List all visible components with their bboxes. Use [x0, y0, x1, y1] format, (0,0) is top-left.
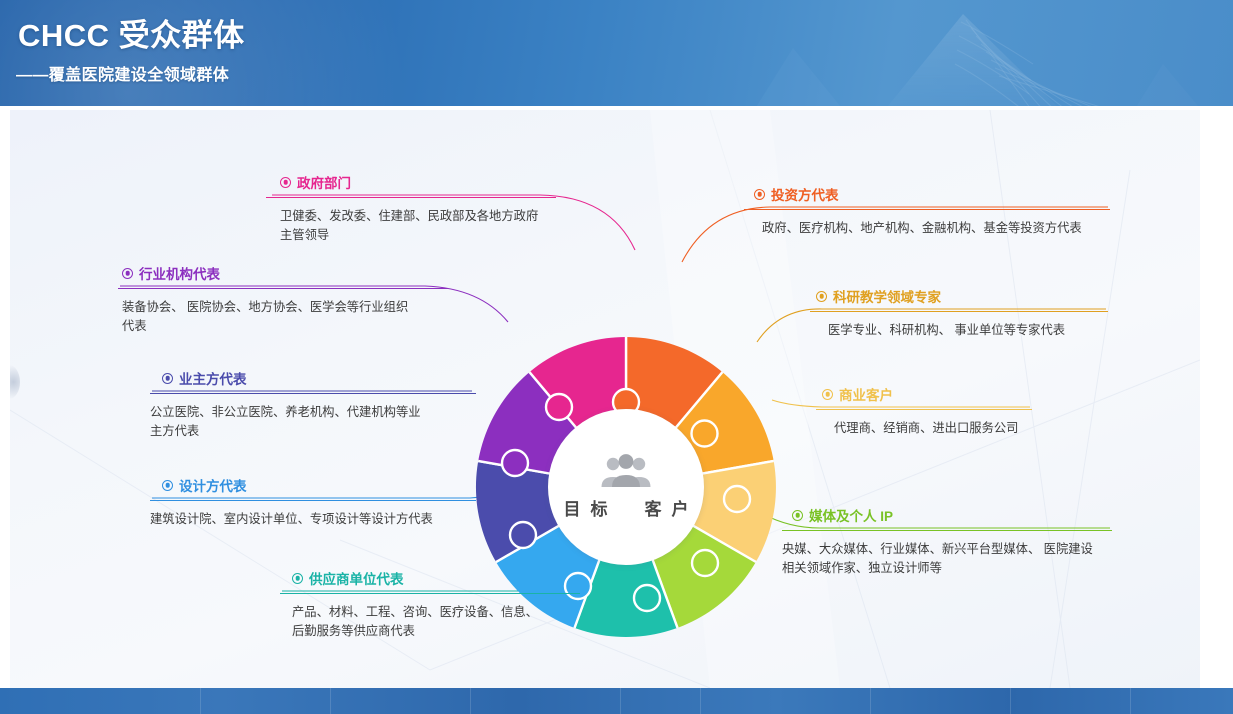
bullet-icon — [292, 573, 303, 584]
footer-band — [0, 688, 1233, 714]
bullet-icon — [822, 389, 833, 400]
callout-title: 商业客户 — [839, 384, 893, 404]
callout-media[interactable]: 媒体及个人 IP 央媒、大众媒体、行业媒体、新兴平台型媒体、 医院建设 相关领域… — [782, 505, 1112, 578]
content-panel: 目标 客户 政府部门 卫健委、发改委、住建部、民政部及各地方政府 主管领导 行业… — [10, 110, 1200, 688]
callout-desc: 装备协会、 医院协会、地方协会、医学会等行业组织 代表 — [118, 289, 448, 336]
callout-research[interactable]: 科研教学领域专家 医学专业、科研机构、 事业单位等专家代表 — [810, 286, 1108, 340]
callout-title: 业主方代表 — [179, 368, 247, 388]
page-subtitle: ——覆盖医院建设全领域群体 — [16, 61, 229, 85]
callout-desc: 政府、医疗机构、地产机构、金融机构、基金等投资方代表 — [744, 210, 1110, 238]
callout-desc: 卫健委、发改委、住建部、民政部及各地方政府 主管领导 — [266, 198, 556, 245]
people-group-icon — [599, 454, 653, 488]
callout-supplier[interactable]: 供应商单位代表 产品、材料、工程、咨询、医疗设备、信息、 后勤服务等供应商代表 — [280, 568, 580, 641]
callout-title: 科研教学领域专家 — [833, 286, 941, 306]
callout-title: 政府部门 — [297, 172, 351, 192]
callout-title: 行业机构代表 — [139, 263, 220, 283]
page-title: CHCC 受众群体 — [18, 10, 245, 55]
bullet-icon — [816, 291, 827, 302]
wheel-center-label: 目标 客户 — [554, 495, 699, 520]
callout-desc: 建筑设计院、室内设计单位、专项设计等设计方代表 — [150, 501, 476, 529]
callout-desc: 公立医院、非公立医院、养老机构、代建机构等业 主方代表 — [150, 394, 476, 441]
bullet-icon — [792, 510, 803, 521]
callout-industry-org[interactable]: 行业机构代表 装备协会、 医院协会、地方协会、医学会等行业组织 代表 — [118, 263, 448, 336]
callout-owner[interactable]: 业主方代表 公立医院、非公立医院、养老机构、代建机构等业 主方代表 — [150, 368, 476, 441]
bullet-icon — [280, 177, 291, 188]
callout-business[interactable]: 商业客户 代理商、经销商、进出口服务公司 — [816, 384, 1032, 438]
bullet-icon — [754, 189, 765, 200]
callout-investor[interactable]: 投资方代表 政府、医疗机构、地产机构、金融机构、基金等投资方代表 — [744, 184, 1110, 238]
callout-title: 投资方代表 — [771, 184, 839, 204]
callout-desc: 代理商、经销商、进出口服务公司 — [816, 410, 1032, 438]
bullet-icon — [122, 268, 133, 279]
callout-title: 媒体及个人 IP — [809, 505, 893, 525]
callout-title: 供应商单位代表 — [309, 568, 404, 588]
bullet-icon — [162, 480, 173, 491]
bullet-icon — [162, 373, 173, 384]
callout-title: 设计方代表 — [179, 475, 247, 495]
callout-desc: 产品、材料、工程、咨询、医疗设备、信息、 后勤服务等供应商代表 — [280, 594, 580, 641]
header-building-graphic — [733, 0, 1233, 106]
wheel-center-hub: 目标 客户 — [548, 409, 704, 565]
callout-desc: 医学专业、科研机构、 事业单位等专家代表 — [810, 312, 1108, 340]
callout-desc: 央媒、大众媒体、行业媒体、新兴平台型媒体、 医院建设 相关领域作家、独立设计师等 — [782, 531, 1112, 578]
callout-design[interactable]: 设计方代表 建筑设计院、室内设计单位、专项设计等设计方代表 — [150, 475, 476, 529]
slide-header: CHCC 受众群体 ——覆盖医院建设全领域群体 — [0, 0, 1233, 106]
callout-government[interactable]: 政府部门 卫健委、发改委、住建部、民政部及各地方政府 主管领导 — [266, 172, 556, 245]
slide-stage: CHCC 受众群体 ——覆盖医院建设全领域群体 — [0, 0, 1233, 714]
